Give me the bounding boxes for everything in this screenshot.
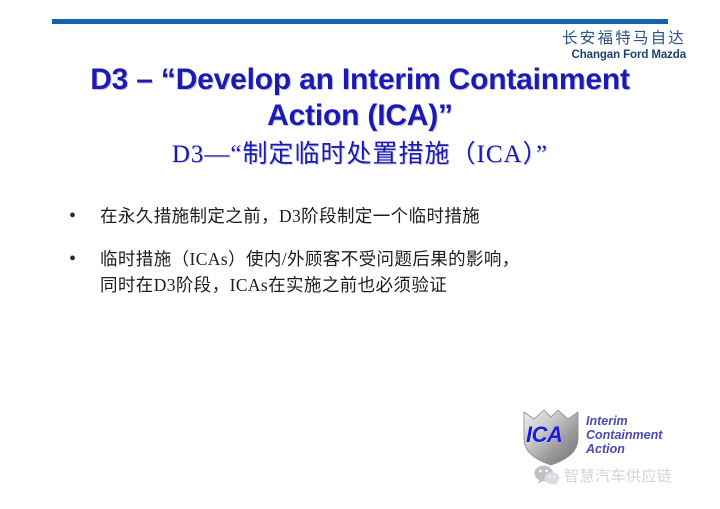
header-rule [52, 19, 668, 24]
ica-expansion: Interim Containment Action [586, 414, 662, 456]
list-item-line: 临时措施（ICAs）使内/外顾客不受问题后果的影响， [100, 249, 520, 269]
page-title-english: D3 – “Develop an Interim Containment Act… [0, 62, 720, 134]
corporate-logo: 长安福特马自达 Changan Ford Mazda [562, 31, 686, 61]
ica-expansion-line: Interim [586, 414, 662, 428]
ica-logo: ICA Interim Containment Action [520, 406, 690, 466]
ica-expansion-line: Action [586, 442, 662, 456]
list-item: • 在永久措施制定之前，D3阶段制定一个临时措施 [62, 203, 662, 229]
corporate-logo-name-en: Changan Ford Mazda [562, 50, 686, 62]
watermark-text: 智慧汽车供应链 [564, 465, 673, 486]
list-item-text: 临时措施（ICAs）使内/外顾客不受问题后果的影响， 同时在D3阶段，ICAs在… [100, 246, 662, 298]
title-block: D3 – “Develop an Interim Containment Act… [0, 62, 720, 170]
bullet-dot-icon: • [62, 203, 100, 229]
ica-acronym: ICA [526, 424, 562, 446]
list-item-line: 在永久措施制定之前，D3阶段制定一个临时措施 [100, 206, 480, 226]
watermark: 智慧汽车供应链 [534, 464, 673, 486]
bullet-dot-icon: • [62, 246, 100, 272]
corporate-logo-name-cn: 长安福特马自达 [562, 31, 686, 47]
list-item-line: 同时在D3阶段，ICAs在实施之前也必须验证 [100, 272, 662, 298]
bullet-list: • 在永久措施制定之前，D3阶段制定一个临时措施 • 临时措施（ICAs）使内/… [62, 203, 662, 315]
page-title-chinese: D3—“制定临时处置措施（ICA）” [0, 140, 720, 170]
list-item-text: 在永久措施制定之前，D3阶段制定一个临时措施 [100, 203, 662, 229]
wechat-icon [534, 464, 560, 486]
slide-canvas: 长安福特马自达 Changan Ford Mazda D3 – “Develop… [0, 0, 720, 509]
ica-expansion-line: Containment [586, 428, 662, 442]
list-item: • 临时措施（ICAs）使内/外顾客不受问题后果的影响， 同时在D3阶段，ICA… [62, 246, 662, 298]
